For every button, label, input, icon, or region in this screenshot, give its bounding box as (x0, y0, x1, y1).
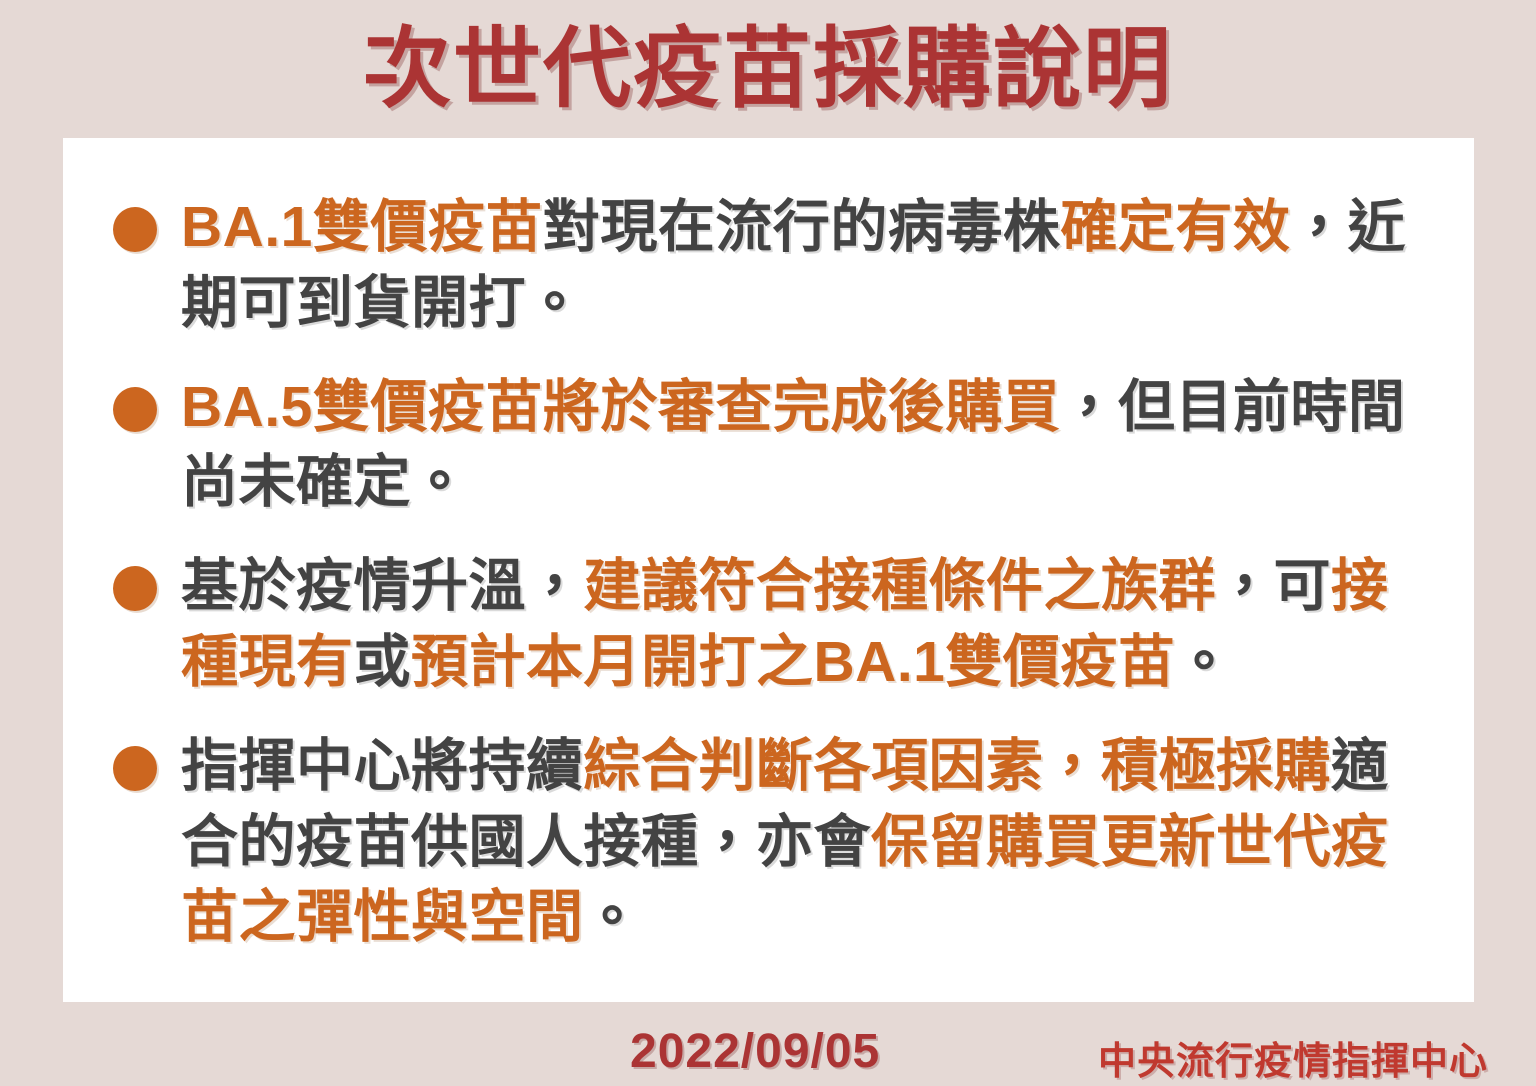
page-title-text: 次世代疫苗採購說明 (363, 25, 1173, 113)
content-card: BA.1雙價疫苗對現在流行的病毒株確定有效，近期可到貨開打。BA.5雙價疫苗將於… (63, 138, 1474, 1002)
bullet-dot-icon (113, 746, 157, 791)
footer-organization: 中央流行疫情指揮中心 (1098, 1030, 1488, 1085)
text-segment: BA.5雙價疫苗將於審查完成後購買 (181, 375, 1060, 439)
page-title: 次世代疫苗採購說明 (0, 8, 1536, 130)
text-segment: 建議符合接種條件之族群 (584, 554, 1217, 618)
poster-root: 次世代疫苗採購說明 BA.1雙價疫苗對現在流行的病毒株確定有效，近期可到貨開打。… (0, 0, 1536, 1086)
text-segment: 基於疫情升溫， (181, 554, 584, 618)
list-item-text: 指揮中心將持續綜合判斷各項因素，積極採購適合的疫苗供國人接種，亦會保留購買更新世… (181, 734, 1389, 950)
text-segment: 對現在流行的病毒株 (543, 195, 1061, 259)
bullet-dot-icon (113, 207, 157, 252)
list-item: 基於疫情升溫，建議符合接種條件之族群，可接種現有或預計本月開打之BA.1雙價疫苗… (99, 549, 1438, 701)
bullet-dot-icon (113, 566, 157, 611)
bullet-list: BA.1雙價疫苗對現在流行的病毒株確定有效，近期可到貨開打。BA.5雙價疫苗將於… (99, 190, 1438, 956)
text-segment: 確定有效 (1060, 195, 1290, 259)
list-item: BA.5雙價疫苗將於審查完成後購買，但目前時間尚未確定。 (99, 370, 1438, 522)
text-segment: 指揮中心將持續 (181, 734, 584, 798)
text-segment: 或 (354, 630, 412, 694)
text-segment: BA.1雙價疫苗 (181, 195, 543, 259)
text-segment: 預計本月開打之BA.1雙價疫苗 (411, 630, 1175, 694)
footer: 2022/09/05 中央流行疫情指揮中心 (0, 1010, 1536, 1086)
text-segment: 。 (584, 885, 642, 949)
list-item-text: 基於疫情升溫，建議符合接種條件之族群，可接種現有或預計本月開打之BA.1雙價疫苗… (181, 554, 1389, 694)
list-item-text: BA.5雙價疫苗將於審查完成後購買，但目前時間尚未確定。 (181, 375, 1405, 515)
list-item: BA.1雙價疫苗對現在流行的病毒株確定有效，近期可到貨開打。 (99, 190, 1438, 342)
bullet-dot-icon (113, 387, 157, 432)
list-item: 指揮中心將持續綜合判斷各項因素，積極採購適合的疫苗供國人接種，亦會保留購買更新世… (99, 729, 1438, 956)
text-segment: 綜合判斷各項因素，積極採購 (584, 734, 1332, 798)
footer-date: 2022/09/05 (630, 1024, 880, 1079)
text-segment: 。 (1175, 630, 1233, 694)
text-segment: ，可 (1216, 554, 1331, 618)
list-item-text: BA.1雙價疫苗對現在流行的病毒株確定有效，近期可到貨開打。 (181, 195, 1405, 335)
